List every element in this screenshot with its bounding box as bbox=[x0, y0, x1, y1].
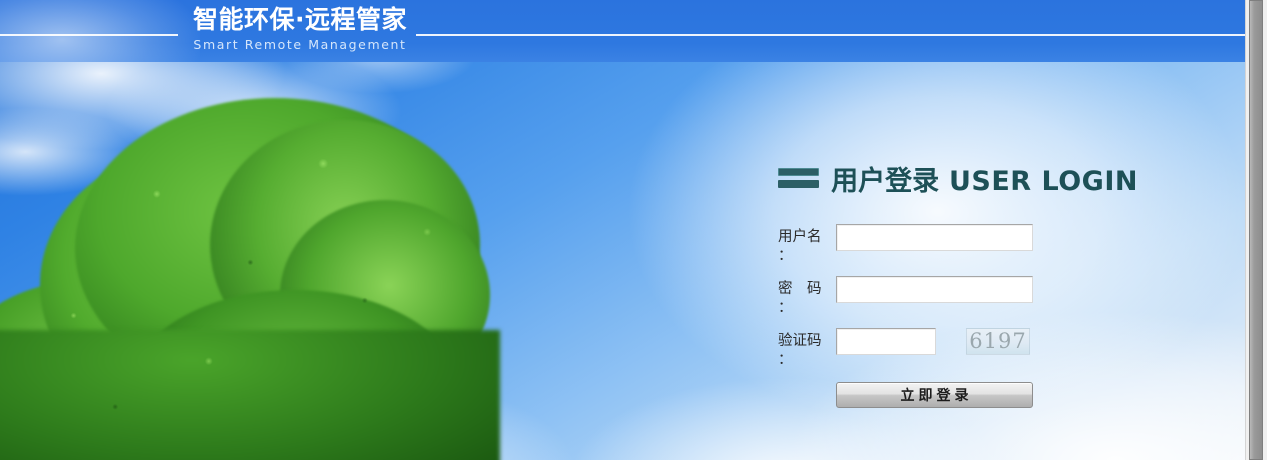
password-label: 密 码 ： bbox=[778, 276, 836, 318]
captcha-label-cn: 验证码 bbox=[778, 332, 836, 351]
captcha-input[interactable] bbox=[836, 328, 936, 355]
login-heading-text: 用户登录 USER LOGIN bbox=[831, 159, 1138, 198]
equals-bar-top bbox=[778, 168, 819, 176]
username-input[interactable] bbox=[836, 224, 1033, 251]
header-cloud bbox=[0, 0, 200, 62]
login-form: 用户名 ： 密 码 ： 验证码 ： 6197 bbox=[778, 224, 1138, 408]
captcha-label-colon: ： bbox=[778, 351, 836, 370]
username-row: 用户名 ： bbox=[778, 224, 1138, 266]
header-rule-right bbox=[416, 34, 1249, 36]
username-label: 用户名 ： bbox=[778, 224, 836, 266]
username-label-colon: ： bbox=[778, 247, 836, 266]
username-label-cn: 用户名 bbox=[778, 228, 836, 247]
equals-bars-icon bbox=[778, 166, 819, 190]
login-heading-cn: 用户登录 bbox=[831, 166, 939, 197]
captcha-image[interactable]: 6197 bbox=[966, 328, 1030, 355]
submit-row: 立即登录 bbox=[836, 382, 1138, 408]
password-input[interactable] bbox=[836, 276, 1033, 303]
captcha-row: 验证码 ： 6197 bbox=[778, 328, 1138, 370]
equals-bar-bottom bbox=[778, 180, 819, 188]
scrollbar-thumb[interactable] bbox=[1249, 0, 1263, 460]
login-page: 智能环保·远程管家 Smart Remote Management 用户登录 U… bbox=[0, 0, 1267, 460]
login-submit-button[interactable]: 立即登录 bbox=[836, 382, 1033, 408]
password-row: 密 码 ： bbox=[778, 276, 1138, 318]
vertical-scrollbar[interactable] bbox=[1245, 0, 1267, 460]
header-rule-left bbox=[0, 34, 178, 36]
password-label-cn: 密 码 bbox=[778, 280, 836, 299]
login-heading-en bbox=[939, 166, 949, 197]
login-heading-en-text: USER LOGIN bbox=[949, 166, 1138, 197]
captcha-label: 验证码 ： bbox=[778, 328, 836, 370]
site-header: 智能环保·远程管家 Smart Remote Management bbox=[0, 0, 1267, 62]
site-logo: 智能环保·远程管家 Smart Remote Management bbox=[186, 5, 414, 53]
logo-subtitle-en: Smart Remote Management bbox=[186, 37, 414, 53]
login-heading: 用户登录 USER LOGIN bbox=[778, 158, 1138, 198]
password-label-colon: ： bbox=[778, 299, 836, 318]
logo-title-cn: 智能环保·远程管家 bbox=[186, 5, 414, 35]
login-panel: 用户登录 USER LOGIN 用户名 ： 密 码 ： 验证码 bbox=[778, 158, 1138, 408]
